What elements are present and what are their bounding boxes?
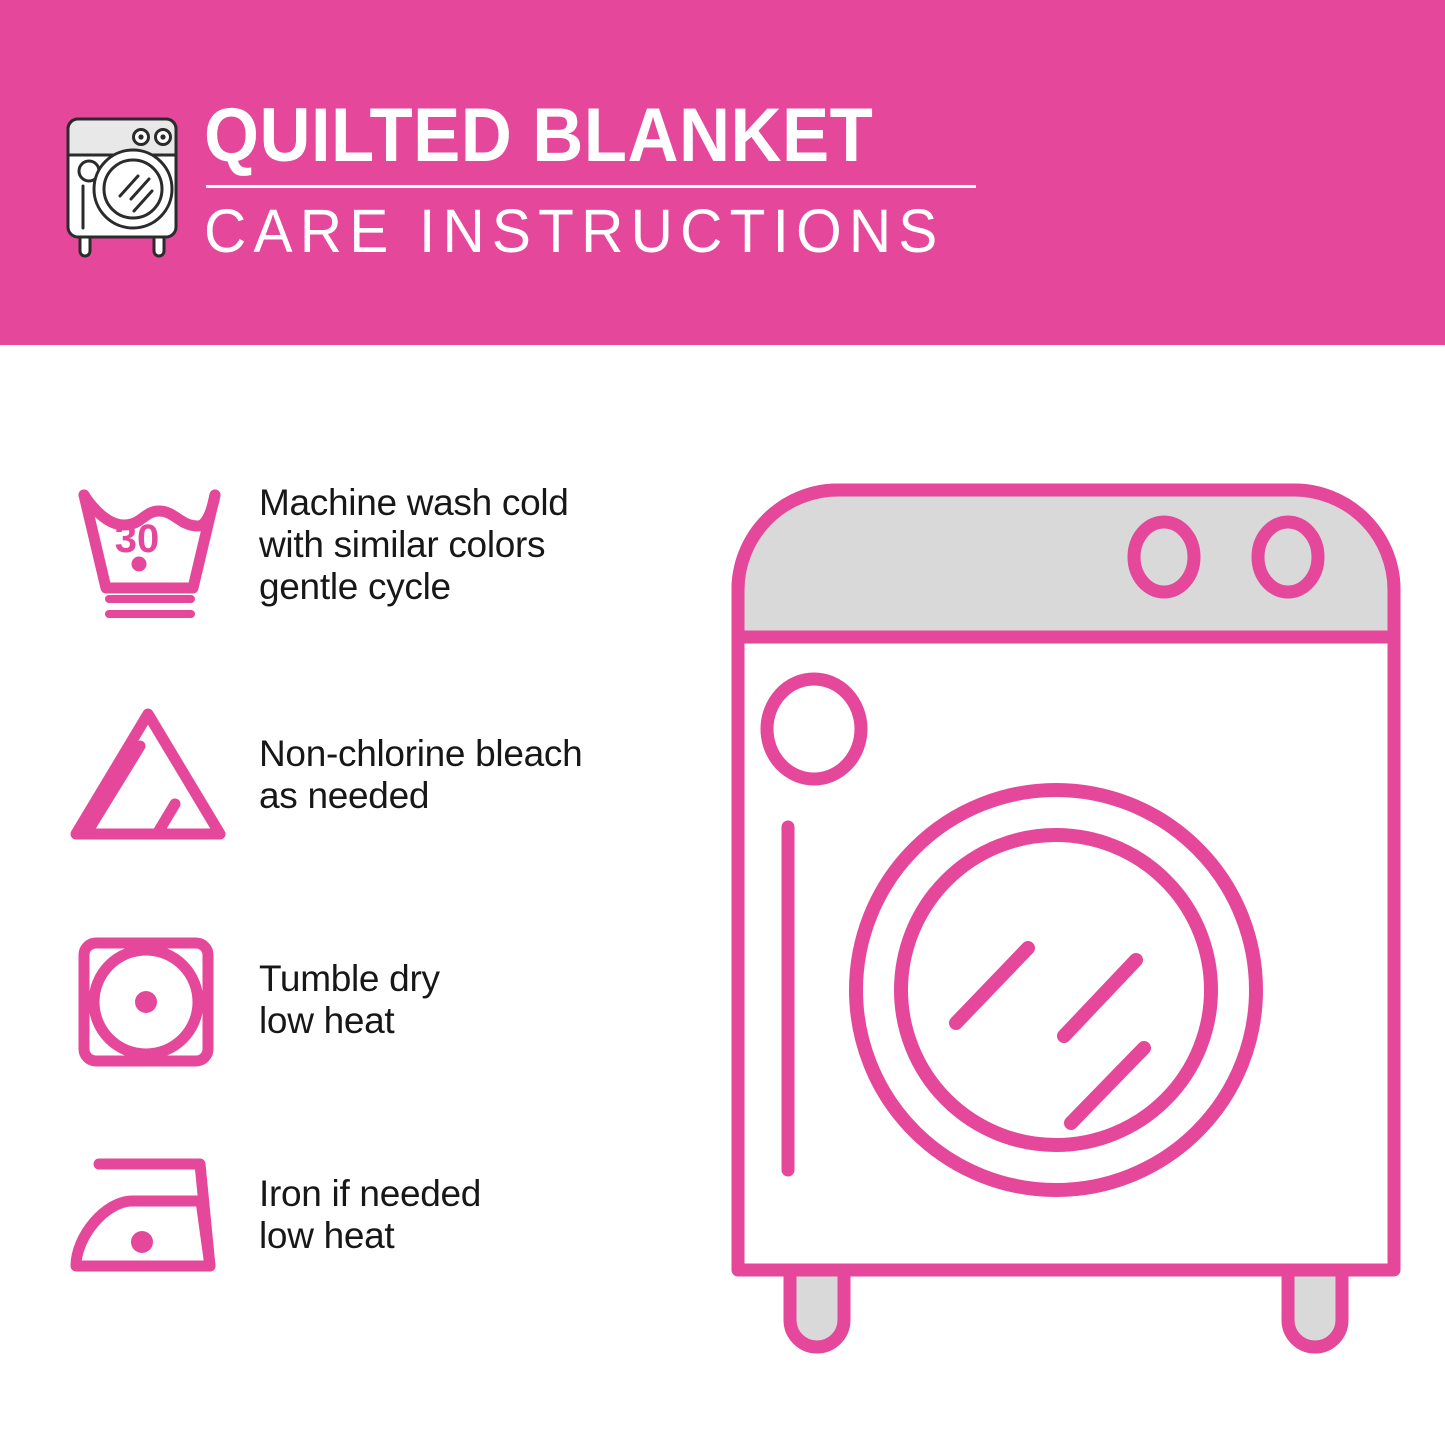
care-row-iron: Iron if needed low heat [62,1135,682,1295]
title-divider [206,185,976,188]
care-text-line: Non-chlorine bleach [259,733,682,775]
detergent-drawer-circle[interactable] [767,679,861,779]
care-text-line: with similar colors [259,524,682,566]
washing-machine-icon [58,101,186,261]
iron-low-heat-icon [62,1135,237,1295]
care-row-machine-wash-text: Machine wash cold with similar colors ge… [259,482,682,608]
page-title: QUILTED BLANKET [204,95,922,177]
wash-temperature-label: 30 [115,517,160,561]
care-row-tumble-dry-text: Tumble dry low heat [259,958,682,1042]
care-row-bleach: Non-chlorine bleach as needed [62,695,682,855]
non-chlorine-bleach-triangle-icon [62,695,237,855]
front-load-washing-machine-illustration [716,470,1416,1370]
care-row-machine-wash: 30 Machine wash cold with similar colors… [62,465,682,625]
care-instructions-list: 30 Machine wash cold with similar colors… [0,345,700,1445]
care-text-line: as needed [259,775,682,817]
care-text-line: low heat [259,1215,682,1257]
leg-right [1288,1270,1342,1347]
care-row-bleach-text: Non-chlorine bleach as needed [259,733,682,817]
header-content: QUILTED BLANKET CARE INSTRUCTIONS [58,95,976,264]
tumble-dry-low-icon [62,920,237,1080]
page-subtitle: CARE INSTRUCTIONS [204,198,945,264]
care-text-line: Machine wash cold [259,482,682,524]
wash-tub-30-gentle-icon: 30 [62,465,237,625]
header-title-group: QUILTED BLANKET CARE INSTRUCTIONS [204,95,976,264]
care-row-tumble-dry: Tumble dry low heat [62,920,682,1080]
care-text-line: gentle cycle [259,566,682,608]
leg-left [790,1270,844,1347]
care-text-line: low heat [259,1000,682,1042]
door-inner-ring[interactable] [901,835,1211,1145]
care-text-line: Tumble dry [259,958,682,1000]
care-row-iron-text: Iron if needed low heat [259,1173,682,1257]
care-instructions-page: QUILTED BLANKET CARE INSTRUCTIONS 30 [0,0,1445,1445]
header-banner: QUILTED BLANKET CARE INSTRUCTIONS [0,0,1445,345]
knob-left[interactable] [1134,522,1194,592]
care-text-line: Iron if needed [259,1173,682,1215]
knob-right[interactable] [1258,522,1318,592]
